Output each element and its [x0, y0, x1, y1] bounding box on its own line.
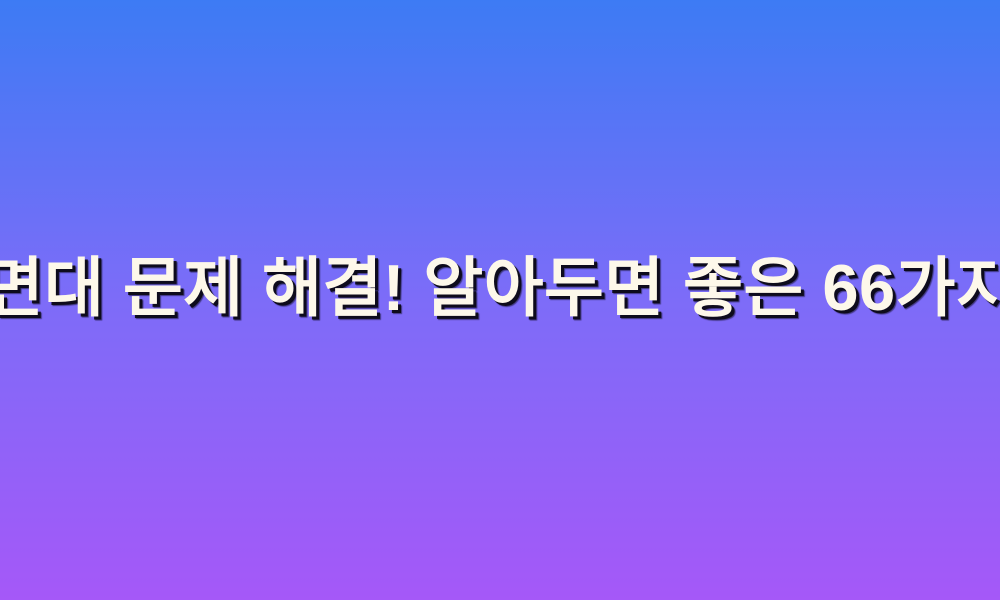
headline-band: 면대 문제 해결! 알아두면 좋은 66가지: [0, 0, 1000, 600]
banner-headline: 면대 문제 해결! 알아두면 좋은 66가지: [0, 254, 1000, 322]
gradient-banner: 면대 문제 해결! 알아두면 좋은 66가지: [0, 0, 1000, 600]
